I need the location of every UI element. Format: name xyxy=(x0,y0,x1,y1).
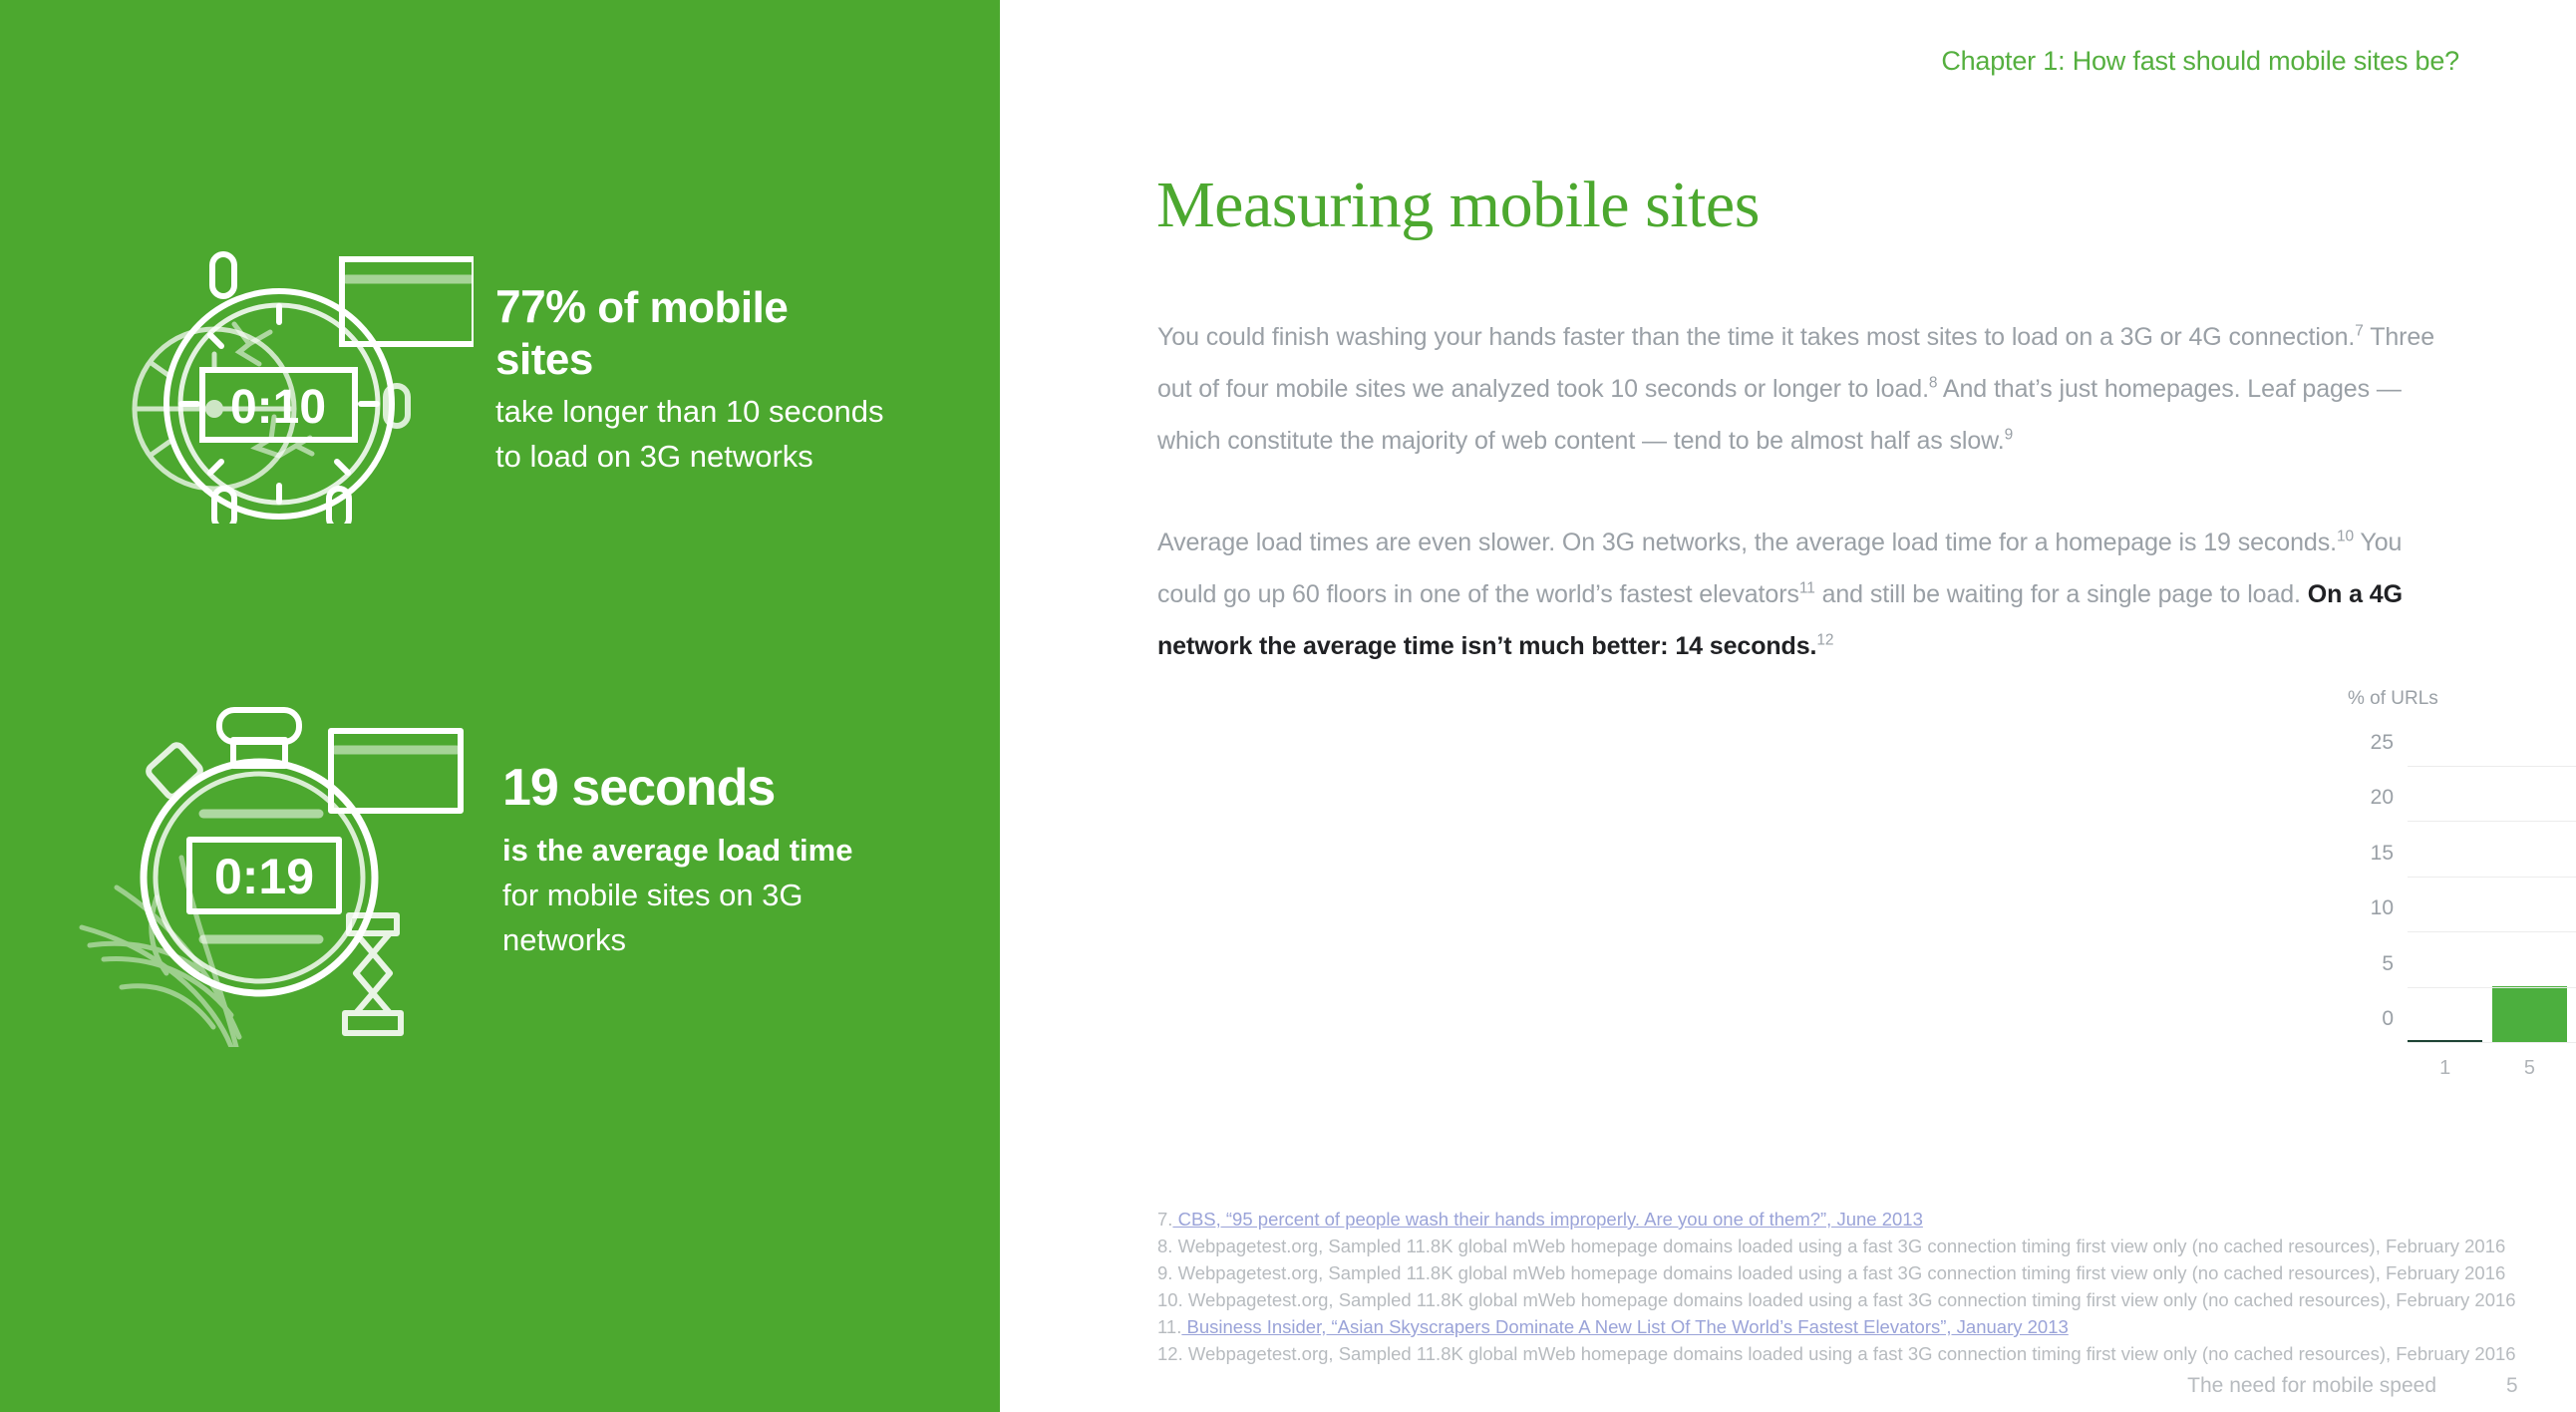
chart-y-axis-title: % of URLs xyxy=(2348,688,2438,710)
chart-y-tick-label: 15 xyxy=(2371,842,2394,866)
footnote-text: Webpagetest.org, Sampled 11.8K global mW… xyxy=(1183,1343,2516,1364)
page-footer: The need for mobile speed 5 xyxy=(2187,1374,2546,1398)
footnote-item: 12. Webpagetest.org, Sampled 11.8K globa… xyxy=(1157,1340,2493,1367)
chart-y-tick-label: 10 xyxy=(2371,896,2394,920)
stat-text-19: 19 seconds is the average load time for … xyxy=(502,698,901,963)
p2-sup-12: 12 xyxy=(1816,632,1833,649)
left-stat-panel: 0:10 77% of mobile sites take longer tha… xyxy=(0,0,1000,1412)
chart-y-tick-label: 5 xyxy=(2382,952,2394,976)
footnote-number: 9. xyxy=(1157,1262,1172,1283)
chart-y-tick-label: 25 xyxy=(2371,731,2394,755)
stopwatch-time-0-19: 0:19 xyxy=(214,849,314,904)
footnote-list: 7. CBS, “95 percent of people wash their… xyxy=(1157,1206,2493,1367)
chart-gridline xyxy=(2408,821,2576,822)
stat-sub-norm-19: for mobile sites on 3G networks xyxy=(502,874,901,963)
body-paragraph-1: You could finish washing your hands fast… xyxy=(1157,311,2453,467)
stat-sub-bold-19: is the average load time xyxy=(502,829,901,874)
chart-plot-area: 0510152025 xyxy=(2408,750,2576,1043)
document-page: 0:10 77% of mobile sites take longer tha… xyxy=(0,0,2576,1412)
footnote-number: 7. xyxy=(1157,1209,1172,1230)
chart-bar xyxy=(2492,986,2567,1043)
chart-gridline xyxy=(2408,1042,2576,1043)
footnote-number: 12. xyxy=(1157,1343,1183,1364)
footnote-text: Webpagetest.org, Sampled 11.8K global mW… xyxy=(1183,1289,2516,1310)
clock-time-0-10: 0:10 xyxy=(230,381,326,434)
chart-y-tick-label: 0 xyxy=(2382,1007,2394,1031)
stat-lead-19: 19 seconds xyxy=(502,758,901,819)
chart-gridline xyxy=(2408,766,2576,767)
footnote-number: 11. xyxy=(1157,1316,1181,1337)
chapter-label: Chapter 1: How fast should mobile sites … xyxy=(1941,46,2459,77)
footnote-text: Webpagetest.org, Sampled 11.8K global mW… xyxy=(1172,1235,2505,1256)
load-time-distribution-chart: % of URLs 0510152025 151015202530354045 … xyxy=(2348,688,2576,1087)
footnote-number: 10. xyxy=(1157,1289,1183,1310)
p1-sup-7: 7 xyxy=(2355,323,2364,340)
p2-sup-10: 10 xyxy=(2337,529,2354,545)
chart-x-tick: 1 xyxy=(2408,1057,2482,1080)
stat-sub-77: take longer than 10 seconds to load on 3… xyxy=(495,390,894,480)
footer-document-title: The need for mobile speed xyxy=(2187,1374,2436,1398)
body-paragraph-2: Average load times are even slower. On 3… xyxy=(1157,517,2453,672)
stat-block-19-seconds: 0:19 19 seconds is the average load time… xyxy=(62,698,901,1052)
stat-lead-77: 77% of mobile sites xyxy=(495,279,894,386)
footnote-text: Webpagetest.org, Sampled 11.8K global mW… xyxy=(1172,1262,2505,1283)
stat-block-77-percent: 0:10 77% of mobile sites take longer tha… xyxy=(75,224,894,529)
chart-gridline xyxy=(2408,877,2576,878)
footnote-item: 8. Webpagetest.org, Sampled 11.8K global… xyxy=(1157,1233,2493,1259)
chart-gridline xyxy=(2408,987,2576,988)
p2-sup-11: 11 xyxy=(1799,580,1815,597)
p1-part-a: You could finish washing your hands fast… xyxy=(1157,323,2355,351)
p2-part-a: Average load times are even slower. On 3… xyxy=(1157,529,2337,556)
chart-bars-group xyxy=(2408,750,2576,1043)
footer-page-number: 5 xyxy=(2506,1374,2546,1398)
stat-number-77: 77% xyxy=(495,280,586,332)
footnote-link[interactable]: Business Insider, “Asian Skyscrapers Dom… xyxy=(1181,1316,2068,1337)
cobweb-stopwatch-icon: 0:19 xyxy=(62,698,481,1052)
footnote-item[interactable]: 11. Business Insider, “Asian Skyscrapers… xyxy=(1157,1313,2493,1340)
chart-bar-slot xyxy=(2492,750,2567,1043)
footnote-number: 8. xyxy=(1157,1235,1172,1256)
chart-gridline xyxy=(2408,931,2576,932)
chart-bar-slot xyxy=(2408,750,2482,1043)
footnote-link[interactable]: CBS, “95 percent of people wash their ha… xyxy=(1172,1209,1922,1230)
chart-x-tick: 5 xyxy=(2492,1057,2567,1080)
footnote-item: 9. Webpagetest.org, Sampled 11.8K global… xyxy=(1157,1259,2493,1286)
stat-text-77: 77% of mobile sites take longer than 10 … xyxy=(495,224,894,480)
p2-part-c: and still be waiting for a single page t… xyxy=(1815,580,2308,608)
broken-alarm-clock-icon: 0:10 xyxy=(75,224,474,529)
chart-x-axis-title: Page load time (seconds) xyxy=(2408,1097,2576,1120)
chart-y-tick-label: 20 xyxy=(2371,786,2394,810)
p1-sup-9: 9 xyxy=(2005,427,2014,444)
page-title: Measuring mobile sites xyxy=(1156,168,1760,243)
footnote-item: 10. Webpagetest.org, Sampled 11.8K globa… xyxy=(1157,1286,2493,1313)
chart-x-tick-labels: 151015202530354045 xyxy=(2408,1057,2576,1080)
right-content-panel: Chapter 1: How fast should mobile sites … xyxy=(1000,0,2576,1412)
footnote-item[interactable]: 7. CBS, “95 percent of people wash their… xyxy=(1157,1206,2493,1233)
